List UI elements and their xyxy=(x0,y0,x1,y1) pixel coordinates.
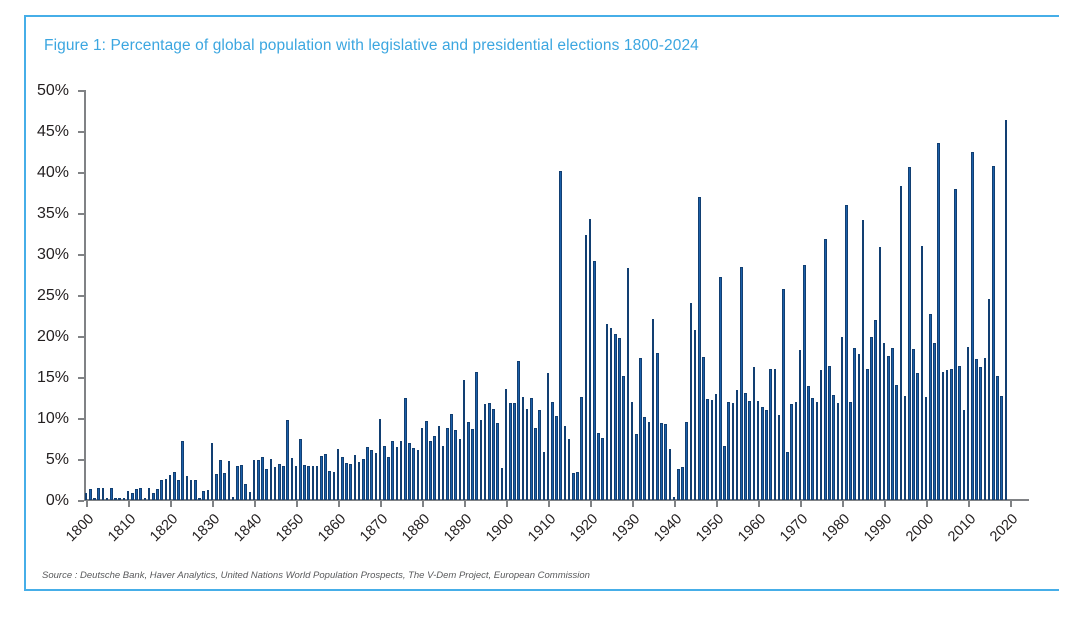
bar xyxy=(837,403,840,500)
bar xyxy=(648,422,651,500)
bar xyxy=(929,314,932,500)
bar xyxy=(744,393,747,500)
bar xyxy=(366,447,369,500)
bar xyxy=(291,458,294,500)
y-tick-mark: 5% xyxy=(78,459,84,461)
bar xyxy=(690,303,693,500)
bar xyxy=(249,492,252,500)
bar xyxy=(799,350,802,500)
bar xyxy=(286,420,289,500)
bar xyxy=(845,205,848,500)
bar xyxy=(870,337,873,500)
bar xyxy=(228,461,231,500)
bar xyxy=(996,376,999,500)
bar xyxy=(114,498,117,500)
bar xyxy=(345,463,348,500)
bar xyxy=(1005,120,1008,500)
x-tick-mark xyxy=(86,500,88,507)
bar xyxy=(862,220,865,500)
bar xyxy=(425,421,428,500)
bar xyxy=(568,439,571,501)
bar xyxy=(328,471,331,500)
bar xyxy=(925,397,928,500)
bar xyxy=(127,491,130,500)
x-tick-mark xyxy=(926,500,928,507)
bar xyxy=(858,354,861,500)
y-tick-label: 40% xyxy=(37,164,69,182)
bar xyxy=(669,449,672,500)
bar xyxy=(190,480,193,501)
x-tick-mark xyxy=(758,500,760,507)
bar xyxy=(207,490,210,500)
bar xyxy=(181,441,184,500)
bar xyxy=(942,372,945,500)
bar xyxy=(295,466,298,500)
bar xyxy=(702,357,705,501)
bar xyxy=(627,268,630,500)
bar xyxy=(442,446,445,500)
bar xyxy=(656,353,659,500)
bar xyxy=(505,389,508,500)
bar xyxy=(874,320,877,500)
y-tick-mark: 25% xyxy=(78,295,84,297)
bar xyxy=(635,434,638,500)
bar xyxy=(572,473,575,500)
bar xyxy=(601,438,604,500)
bar xyxy=(526,409,529,500)
y-tick-label: 10% xyxy=(37,410,69,428)
bar xyxy=(593,261,596,500)
x-tick-mark xyxy=(170,500,172,507)
bar xyxy=(160,480,163,501)
bar xyxy=(765,410,768,500)
bar xyxy=(522,397,525,500)
bar xyxy=(429,441,432,500)
bar xyxy=(706,399,709,500)
x-tick-mark xyxy=(128,500,130,507)
x-tick-mark xyxy=(590,500,592,507)
bar xyxy=(853,348,856,500)
y-tick-mark: 20% xyxy=(78,336,84,338)
bar xyxy=(509,403,512,500)
bar xyxy=(891,348,894,500)
bar xyxy=(379,419,382,500)
bar xyxy=(198,498,201,500)
bar xyxy=(97,488,100,500)
bar xyxy=(244,484,247,500)
bar xyxy=(307,466,310,500)
y-tick-label: 35% xyxy=(37,205,69,223)
x-tick-mark xyxy=(842,500,844,507)
x-tick-mark xyxy=(632,500,634,507)
bar xyxy=(585,235,588,500)
bar xyxy=(459,439,462,501)
bar xyxy=(879,247,882,500)
bar xyxy=(748,401,751,500)
bar xyxy=(261,457,264,500)
bar xyxy=(610,328,613,500)
bar xyxy=(606,324,609,500)
bar xyxy=(727,402,730,500)
bar xyxy=(324,454,327,500)
bar xyxy=(895,385,898,500)
bar xyxy=(908,167,911,500)
bar xyxy=(265,469,268,500)
bar xyxy=(408,443,411,500)
bar xyxy=(589,219,592,500)
bar xyxy=(148,488,151,500)
bar xyxy=(757,401,760,500)
bar xyxy=(387,457,390,500)
bar xyxy=(433,436,436,500)
bar xyxy=(660,423,663,500)
bar xyxy=(215,474,218,500)
bar xyxy=(778,415,781,500)
bar xyxy=(643,417,646,500)
bar xyxy=(240,465,243,500)
bar xyxy=(883,343,886,500)
y-axis-line xyxy=(84,90,86,500)
bar xyxy=(753,367,756,500)
bar xyxy=(400,441,403,500)
bar xyxy=(866,369,869,500)
bar xyxy=(543,452,546,500)
bar xyxy=(711,400,714,500)
y-tick-mark: 10% xyxy=(78,418,84,420)
bar xyxy=(85,493,88,500)
x-tick-mark xyxy=(800,500,802,507)
bar xyxy=(194,480,197,501)
bar xyxy=(576,472,579,500)
bar xyxy=(732,403,735,500)
bar xyxy=(774,369,777,500)
bar xyxy=(312,466,315,500)
bar xyxy=(786,452,789,500)
bar xyxy=(496,423,499,500)
y-tick-label: 50% xyxy=(37,82,69,100)
bar xyxy=(144,498,147,500)
bar xyxy=(950,369,953,500)
bar xyxy=(282,466,285,500)
bar xyxy=(299,439,302,501)
x-tick-mark xyxy=(884,500,886,507)
chart-plot-area: 0%5%10%15%20%25%30%35%40%45%50% 18001810… xyxy=(84,90,1029,500)
y-tick-label: 5% xyxy=(46,451,69,469)
bar xyxy=(253,460,256,500)
bar xyxy=(337,449,340,500)
y-tick-label: 0% xyxy=(46,492,69,510)
bar xyxy=(450,414,453,500)
bar xyxy=(202,491,205,500)
bar xyxy=(303,465,306,500)
bar xyxy=(790,404,793,500)
bar xyxy=(102,488,105,500)
bar xyxy=(341,457,344,500)
bar xyxy=(169,475,172,500)
bar xyxy=(984,358,987,500)
bar xyxy=(824,239,827,500)
bar xyxy=(320,456,323,500)
x-tick-mark xyxy=(968,500,970,507)
bar xyxy=(513,403,516,500)
bar xyxy=(333,472,336,500)
bar xyxy=(719,277,722,500)
bar xyxy=(664,424,667,500)
bar xyxy=(900,186,903,500)
bar xyxy=(463,380,466,500)
bar xyxy=(278,464,281,500)
bar xyxy=(841,337,844,500)
y-tick-mark: 45% xyxy=(78,131,84,133)
bar xyxy=(807,386,810,500)
bar xyxy=(106,498,109,500)
source-note: Source : Deutsche Bank, Haver Analytics,… xyxy=(42,570,590,581)
bar xyxy=(471,429,474,500)
bar xyxy=(219,460,222,500)
bar xyxy=(811,398,814,501)
bar xyxy=(257,460,260,500)
bar xyxy=(530,398,533,500)
bar xyxy=(769,369,772,500)
figure-card: Figure 1: Percentage of global populatio… xyxy=(24,15,1059,591)
bar xyxy=(538,410,541,500)
bar xyxy=(887,356,890,500)
bar xyxy=(412,448,415,500)
x-tick-label: 2020 xyxy=(939,511,1021,593)
bar xyxy=(958,366,961,500)
x-tick-mark xyxy=(548,500,550,507)
bar xyxy=(123,498,126,500)
bar xyxy=(358,462,361,500)
bar xyxy=(988,299,991,500)
bar xyxy=(614,334,617,500)
bar xyxy=(736,390,739,500)
bar xyxy=(396,447,399,500)
x-tick-mark xyxy=(380,500,382,507)
bar xyxy=(139,488,142,500)
bar xyxy=(1000,396,1003,500)
bar xyxy=(362,459,365,500)
bar xyxy=(673,497,676,500)
bar xyxy=(971,152,974,500)
bar xyxy=(152,493,155,500)
bar xyxy=(488,403,491,500)
bar xyxy=(370,450,373,500)
bar xyxy=(177,480,180,500)
bar xyxy=(979,367,982,500)
bar xyxy=(828,366,831,500)
x-tick-mark xyxy=(716,500,718,507)
bar xyxy=(186,476,189,500)
bar xyxy=(639,358,642,500)
bar xyxy=(559,171,562,500)
bar xyxy=(417,450,420,500)
bar xyxy=(274,467,277,500)
bar xyxy=(631,402,634,500)
bar xyxy=(652,319,655,500)
bar xyxy=(816,402,819,500)
y-tick-label: 15% xyxy=(37,369,69,387)
y-tick-mark: 30% xyxy=(78,254,84,256)
bar xyxy=(232,497,235,500)
bar xyxy=(236,466,239,500)
bar xyxy=(740,267,743,500)
bar xyxy=(975,359,978,500)
bar xyxy=(849,402,852,500)
bar xyxy=(211,443,214,500)
bar xyxy=(622,376,625,500)
bar xyxy=(820,370,823,500)
x-tick-mark xyxy=(464,500,466,507)
bar xyxy=(118,498,121,500)
bar xyxy=(349,464,352,500)
bar xyxy=(501,468,504,500)
bar xyxy=(698,197,701,500)
bar xyxy=(564,426,567,500)
bar xyxy=(677,469,680,500)
y-tick-mark: 50% xyxy=(78,90,84,92)
bar xyxy=(421,428,424,500)
y-tick-mark: 40% xyxy=(78,172,84,174)
bar xyxy=(681,467,684,500)
bar xyxy=(694,330,697,500)
bar xyxy=(963,410,966,500)
bar xyxy=(782,289,785,500)
bar xyxy=(475,372,478,500)
x-tick-mark xyxy=(1010,500,1012,507)
x-tick-mark xyxy=(506,500,508,507)
bar xyxy=(551,402,554,500)
bar xyxy=(135,489,138,500)
bar xyxy=(904,396,907,500)
bar xyxy=(517,361,520,500)
bar xyxy=(354,455,357,500)
y-tick-mark: 0% xyxy=(78,500,84,502)
bar xyxy=(93,498,96,500)
bar xyxy=(534,428,537,500)
bar xyxy=(937,143,940,500)
bar xyxy=(156,489,159,500)
bar xyxy=(165,479,168,500)
bar xyxy=(967,347,970,500)
bar xyxy=(383,446,386,500)
y-tick-label: 45% xyxy=(37,123,69,141)
bar xyxy=(933,343,936,500)
bar xyxy=(921,246,924,500)
x-tick-mark xyxy=(674,500,676,507)
bar xyxy=(89,489,92,500)
bar xyxy=(916,373,919,500)
bar xyxy=(597,433,600,500)
bar xyxy=(580,397,583,500)
bar xyxy=(761,407,764,500)
page-title: Figure 1: Percentage of global populatio… xyxy=(44,37,699,55)
bar xyxy=(832,395,835,500)
bar xyxy=(715,394,718,500)
bar xyxy=(223,473,226,500)
x-tick-mark xyxy=(296,500,298,507)
x-tick-mark xyxy=(212,500,214,507)
bar xyxy=(946,370,949,500)
bar xyxy=(446,428,449,500)
y-tick-label: 25% xyxy=(37,287,69,305)
y-tick-mark: 15% xyxy=(78,377,84,379)
bar xyxy=(484,404,487,500)
bar xyxy=(492,409,495,500)
x-tick-mark xyxy=(254,500,256,507)
bar xyxy=(954,189,957,500)
bar xyxy=(438,426,441,500)
bar xyxy=(375,453,378,500)
bar xyxy=(795,402,798,500)
bar xyxy=(173,472,176,500)
y-tick-mark: 35% xyxy=(78,213,84,215)
bar xyxy=(467,422,470,500)
y-tick-label: 30% xyxy=(37,246,69,264)
y-tick-label: 20% xyxy=(37,328,69,346)
bar xyxy=(480,420,483,500)
bar xyxy=(131,493,134,500)
bar xyxy=(912,349,915,500)
x-tick-mark xyxy=(422,500,424,507)
bar xyxy=(723,446,726,500)
bar xyxy=(555,416,558,500)
bar xyxy=(992,166,995,500)
bar xyxy=(391,441,394,500)
bar xyxy=(547,373,550,500)
bar xyxy=(110,488,113,500)
bar xyxy=(404,398,407,501)
x-tick-mark xyxy=(338,500,340,507)
bar xyxy=(316,466,319,500)
bar xyxy=(270,459,273,500)
bar xyxy=(803,265,806,500)
bar xyxy=(454,430,457,500)
bar xyxy=(685,422,688,500)
bar xyxy=(618,338,621,500)
